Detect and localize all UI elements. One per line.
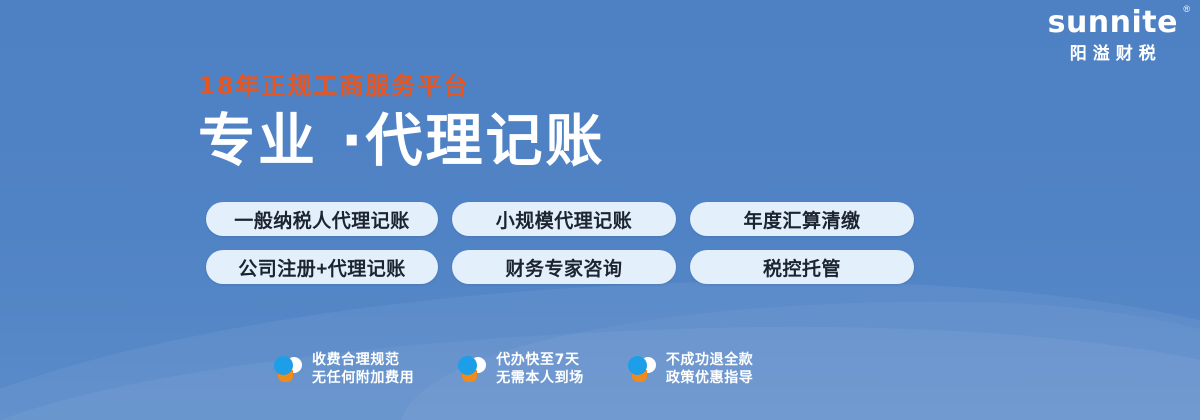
service-pill-tax-control-hosting[interactable]: 税控托管 (690, 250, 914, 284)
feature-line-1: 不成功退全款 (666, 351, 754, 369)
service-pill-company-registration[interactable]: 公司注册+代理记账 (206, 250, 438, 284)
feature-line-1: 代办快至7天 (496, 351, 584, 369)
registered-trademark-icon: ® (1183, 5, 1190, 14)
eclipse-icon (628, 354, 656, 384)
service-pill-general-taxpayer[interactable]: 一般纳税人代理记账 (206, 202, 438, 236)
hero-eyebrow: 18年正规工商服务平台 (198, 74, 606, 98)
feature-text-guarantee: 不成功退全款 政策优惠指导 (666, 351, 754, 388)
feature-text-speed: 代办快至7天 无需本人到场 (496, 351, 584, 388)
feature-strip: 收费合理规范 无任何附加费用 代办快至7天 无需本人到场 不成功退全款 (274, 351, 753, 388)
service-pill-finance-consulting[interactable]: 财务专家咨询 (452, 250, 676, 284)
service-pill-small-scale[interactable]: 小规模代理记账 (452, 202, 676, 236)
feature-item-speed: 代办快至7天 无需本人到场 (458, 351, 584, 388)
eclipse-icon (458, 354, 486, 384)
service-pill-grid: 一般纳税人代理记账 小规模代理记账 年度汇算清缴 公司注册+代理记账 财务专家咨… (206, 202, 914, 284)
brand-logo-chinese-name: 阳溢财税 (1048, 45, 1178, 62)
eclipse-icon (274, 354, 302, 384)
feature-line-2: 无需本人到场 (496, 369, 584, 387)
feature-item-guarantee: 不成功退全款 政策优惠指导 (628, 351, 754, 388)
feature-line-2: 无任何附加费用 (312, 369, 414, 387)
feature-item-pricing: 收费合理规范 无任何附加费用 (274, 351, 414, 388)
feature-line-2: 政策优惠指导 (666, 369, 754, 387)
feature-text-pricing: 收费合理规范 无任何附加费用 (312, 351, 414, 388)
promo-banner: sunnite ® 阳溢财税 18年正规工商服务平台 专业 ·代理记账 一般纳税… (0, 0, 1200, 420)
feature-line-1: 收费合理规范 (312, 351, 414, 369)
brand-logo[interactable]: sunnite ® 阳溢财税 (1048, 8, 1178, 62)
brand-logo-wordmark: sunnite (1048, 8, 1178, 38)
service-pill-annual-settlement[interactable]: 年度汇算清缴 (690, 202, 914, 236)
hero-copy-block: 18年正规工商服务平台 专业 ·代理记账 (198, 74, 606, 172)
hero-headline: 专业 ·代理记账 (198, 112, 606, 172)
